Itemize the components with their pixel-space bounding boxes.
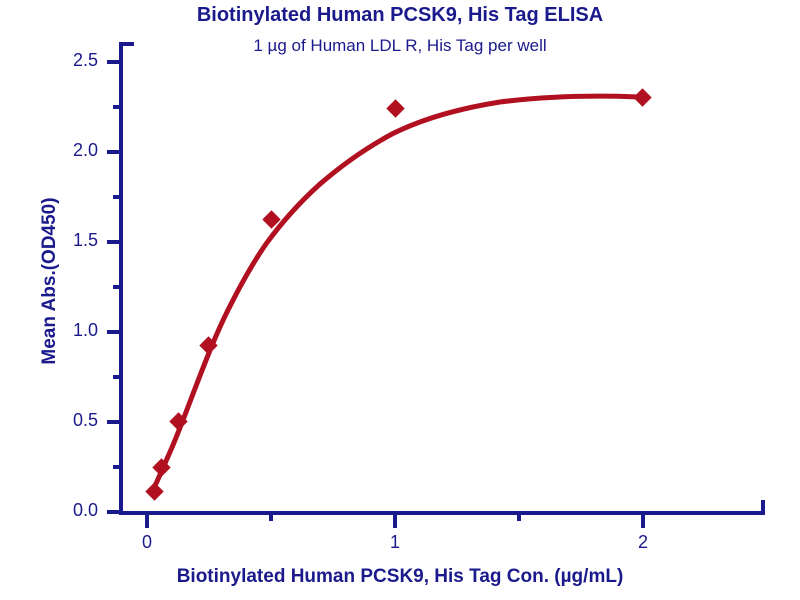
fitted-curve (152, 96, 641, 492)
y-tick-label-5: 2.5 (30, 50, 98, 71)
x-tick-label-0: 0 (117, 532, 177, 553)
x-tick-label-1: 1 (365, 532, 425, 553)
x-tick-label-2: 2 (613, 532, 673, 553)
data-point-markers (145, 88, 651, 500)
y-axis-label: Mean Abs.(OD450) (39, 121, 61, 441)
elisa-binding-chart: Biotinylated Human PCSK9, His Tag ELISA … (0, 0, 800, 600)
plot-canvas (0, 0, 800, 600)
x-axis-major-ticks (147, 513, 643, 528)
x-axis-label: Biotinylated Human PCSK9, His Tag Con. (… (0, 566, 800, 588)
y-tick-label-0: 0.0 (30, 500, 98, 521)
